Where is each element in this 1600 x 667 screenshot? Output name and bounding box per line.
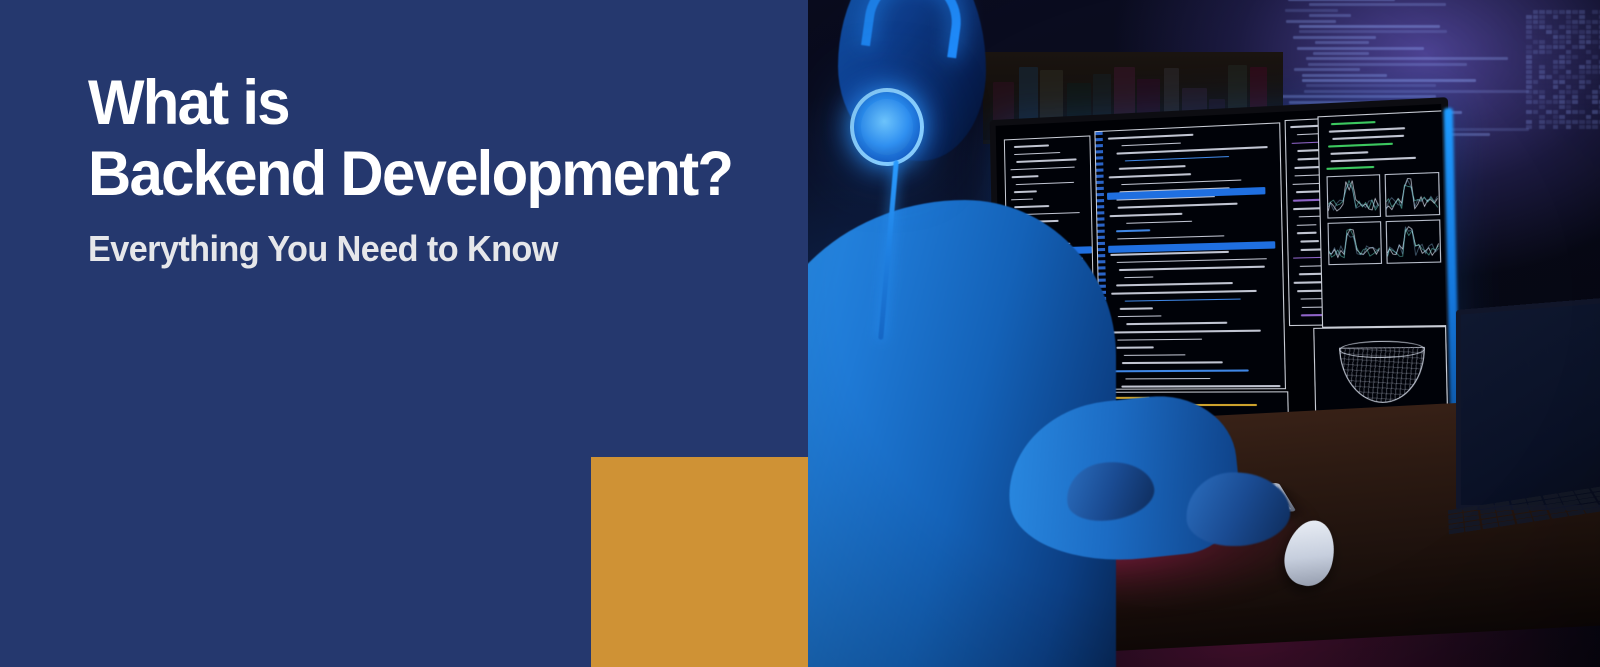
orange-accent-block: [591, 457, 808, 667]
code-editor-pane: [1094, 122, 1286, 389]
chart-bottom-left: [1327, 221, 1382, 265]
headline-line-1: What is: [88, 68, 753, 139]
chart-bottom-right: [1386, 219, 1442, 263]
chart-top-right: [1385, 172, 1441, 217]
wall-data-grid: [1526, 10, 1600, 135]
page-subtitle: Everything You Need to Know: [88, 228, 558, 270]
laptop-screen: [1456, 292, 1600, 510]
page-title: What is Backend Development?: [88, 68, 753, 209]
chart-pane: [1317, 110, 1448, 327]
hero-photo: [808, 0, 1600, 667]
headline-line-2: Backend Development?: [88, 139, 753, 210]
hemisphere-mesh-icon: [1339, 347, 1426, 403]
chart-top-left: [1326, 174, 1381, 218]
hero-banner: What is Backend Development? Everything …: [0, 0, 1600, 667]
headphone-earcup-icon: [850, 88, 924, 166]
